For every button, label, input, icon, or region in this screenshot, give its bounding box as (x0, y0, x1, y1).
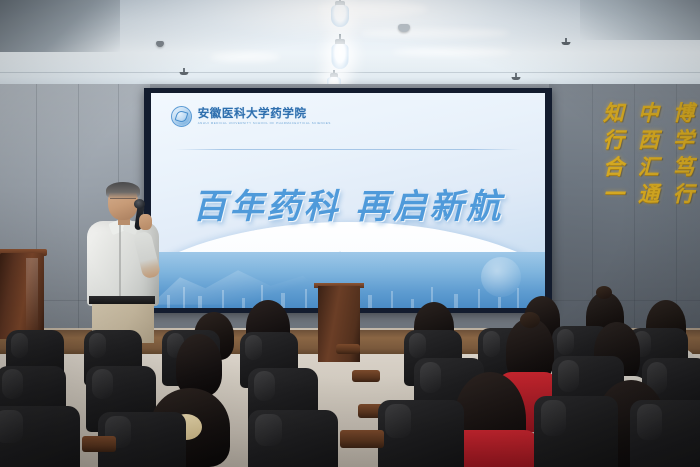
lecture-hall-photo: 博 学 笃 行 中 西 汇 通 知 行 合 一 安徽医科大学药学院 ANHUI … (0, 0, 700, 467)
calligraphy-char: 西 (638, 127, 659, 154)
speaker-shirt-placket (119, 224, 121, 296)
wall-calligraphy: 博 学 笃 行 中 西 汇 通 知 行 合 一 (596, 100, 700, 305)
slide-organization-name-en: ANHUI MEDICAL UNIVERSITY SCHOOL OF PHARM… (198, 121, 331, 125)
slide-main-title: 百年药科 再启新航 (151, 179, 545, 228)
ceiling-patch (360, 28, 510, 38)
calligraphy-column-2: 中 西 汇 通 (632, 100, 665, 305)
seat-armrest (340, 430, 384, 448)
ceiling-patch (210, 52, 280, 62)
calligraphy-char: 博 (673, 100, 694, 127)
projection-screen: 安徽医科大学药学院 ANHUI MEDICAL UNIVERSITY SCHOO… (151, 93, 545, 308)
seat-armrest (82, 436, 116, 452)
calligraphy-char: 行 (673, 181, 694, 208)
calligraphy-char: 一 (603, 181, 624, 208)
calligraphy-char: 通 (638, 181, 659, 208)
calligraphy-char: 中 (638, 100, 659, 127)
speaker-hand (139, 214, 152, 230)
university-crest-icon (171, 106, 192, 127)
smoke-detector-icon (156, 41, 164, 47)
seat-armrest (336, 344, 360, 354)
ceiling-shadow-left (0, 0, 120, 52)
calligraphy-column-1: 博 学 笃 行 (667, 100, 700, 305)
speaker-hair (106, 182, 140, 199)
calligraphy-column-3: 知 行 合 一 (597, 100, 630, 305)
smoke-detector-icon (398, 24, 410, 32)
calligraphy-char: 行 (603, 127, 624, 154)
ceiling-seam (0, 72, 700, 73)
glasses-icon (110, 198, 136, 204)
slide-divider (175, 149, 522, 150)
auditorium-seat (0, 406, 80, 467)
auditorium-seat (630, 400, 700, 467)
microphone-head-icon (134, 199, 145, 209)
ceiling-shadow-right (580, 0, 700, 40)
auditorium-seat (248, 410, 338, 467)
ceiling-patch (392, 48, 512, 56)
calligraphy-char: 合 (603, 154, 624, 181)
slide-header: 安徽医科大学药学院 ANHUI MEDICAL UNIVERSITY SCHOO… (171, 106, 331, 127)
auditorium-seat (378, 400, 464, 467)
speaker-belt (89, 296, 155, 304)
ceiling (0, 0, 700, 96)
calligraphy-char: 汇 (638, 154, 659, 181)
slide-organization-name: 安徽医科大学药学院 (198, 107, 331, 119)
seat-armrest (352, 370, 380, 382)
calligraphy-char: 学 (673, 127, 694, 154)
auditorium-seat (534, 396, 618, 467)
calligraphy-char: 知 (603, 100, 624, 127)
lectern-highlight (26, 258, 38, 334)
calligraphy-char: 笃 (673, 154, 694, 181)
